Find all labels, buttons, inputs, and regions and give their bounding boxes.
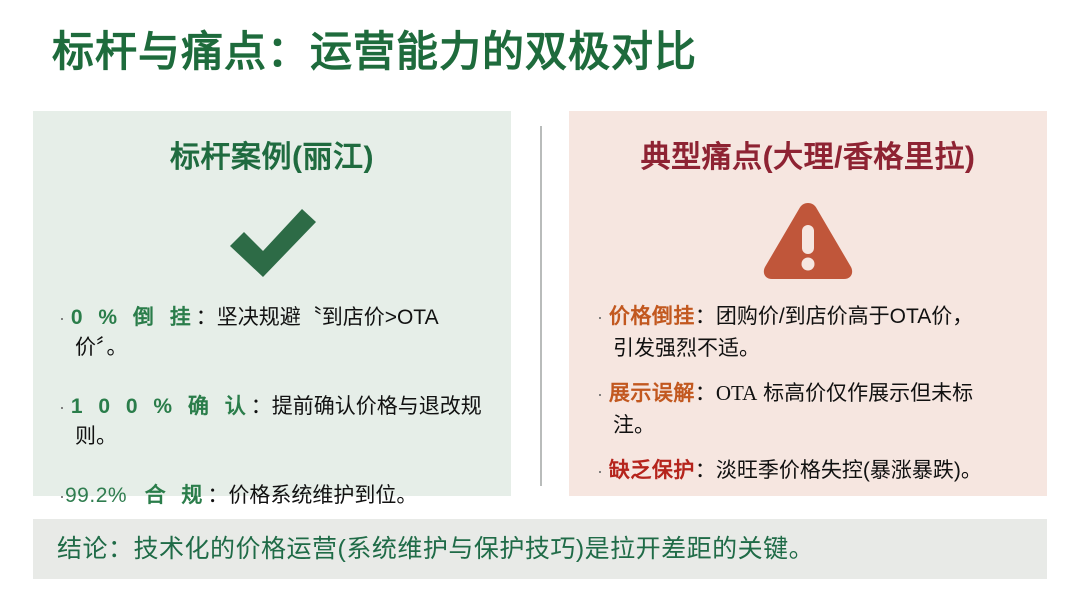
benchmark-bullet-list: · 0 % 倒 挂：坚决规避〝到店价>OTA 价〞。 · 1 0 0 % 确 认… (51, 303, 493, 511)
bullet-label: 价格倒挂 (609, 305, 695, 328)
painpoint-panel: 典型痛点(大理/香格里拉) · 价格倒挂：团购价/到店价高于OTA价，引发强烈不… (569, 111, 1047, 496)
benchmark-panel: 标杆案例(丽江) · 0 % 倒 挂：坚决规避〝到店价>OTA 价〞。 · 1 … (33, 111, 511, 496)
bullet-label: 0 % 倒 挂 (71, 306, 196, 329)
bullet-text: 淡旺季价格失控(暴涨暴跌)。 (716, 459, 982, 482)
bullet-separator: ： (207, 484, 228, 507)
list-item: · 0 % 倒 挂：坚决规避〝到店价>OTA 价〞。 (59, 303, 493, 362)
warning-triangle-icon (587, 193, 1029, 289)
divider-rule (540, 126, 542, 486)
bullet-text-prefix: OTA (716, 381, 757, 405)
bullet-separator: ： (695, 305, 716, 328)
list-item: ·99.2% 合 规：价格系统维护到位。 (59, 481, 493, 511)
bullet-text-continued: 引发强烈不适。 (613, 337, 760, 360)
bullet-text-continued: 注。 (613, 414, 655, 437)
bullet-marker: · (59, 397, 65, 417)
conclusion-bar: 结论：技术化的价格运营(系统维护与保护技巧)是拉开差距的关键。 (33, 519, 1047, 579)
bullet-marker: · (597, 307, 603, 327)
bullet-marker: · (59, 308, 65, 328)
page-title: 标杆与痛点：运营能力的双极对比 (52, 26, 697, 78)
conclusion-text: 结论：技术化的价格运营(系统维护与保护技巧)是拉开差距的关键。 (33, 532, 814, 566)
bullet-marker: · (597, 461, 603, 481)
list-item: · 展示误解：OTA 标高价仅作展示但未标注。 (597, 378, 1029, 441)
check-mark-icon (51, 193, 493, 289)
list-item: · 1 0 0 % 确 认：提前确认价格与退改规则。 (59, 392, 493, 451)
painpoint-bullet-list: · 价格倒挂：团购价/到店价高于OTA价，引发强烈不适。 · 展示误解：OTA … (597, 301, 1029, 487)
bullet-label: 缺乏保护 (609, 459, 695, 482)
list-item: · 价格倒挂：团购价/到店价高于OTA价，引发强烈不适。 (597, 301, 1029, 364)
bullet-separator: ： (695, 382, 716, 405)
bullet-separator: ： (695, 459, 716, 482)
comparison-panels: 标杆案例(丽江) · 0 % 倒 挂：坚决规避〝到店价>OTA 价〞。 · 1 … (33, 111, 1047, 496)
painpoint-panel-header: 典型痛点(大理/香格里拉) (587, 139, 1029, 177)
bullet-separator: ： (196, 306, 217, 329)
panel-divider (511, 111, 569, 496)
bullet-marker: · (597, 384, 603, 404)
bullet-text: 团购价/到店价高于OTA价， (716, 305, 973, 328)
benchmark-panel-header: 标杆案例(丽江) (51, 139, 493, 177)
bullet-label: 合 规 (145, 484, 208, 507)
bullet-metric-value: 99.2% (65, 484, 127, 507)
bullet-separator: ： (251, 395, 272, 418)
bullet-label: 1 0 0 % 确 认 (71, 395, 251, 418)
bullet-text: 标高价仅作展示但未标 (757, 382, 973, 405)
bullet-label: 展示误解 (609, 382, 695, 405)
bullet-text: 价格系统维护到位。 (228, 484, 417, 507)
slide-canvas: 标杆与痛点：运营能力的双极对比 标杆案例(丽江) · 0 % 倒 挂：坚决规避〝… (0, 0, 1080, 603)
list-item: · 缺乏保护：淡旺季价格失控(暴涨暴跌)。 (597, 455, 1029, 487)
